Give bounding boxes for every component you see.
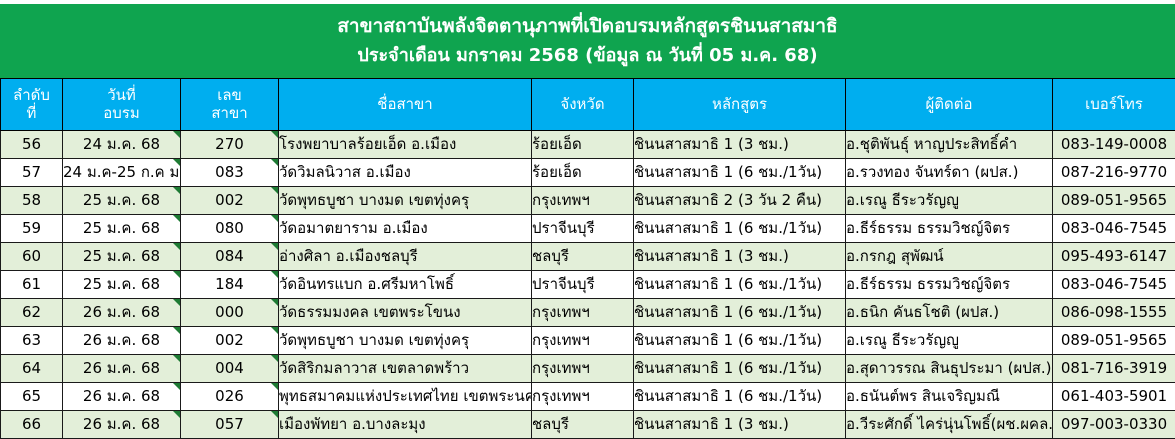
cell-name[interactable]: วัดอินทรแบก อ.ศรีมหาโพธิ์ (279, 271, 532, 299)
comment-indicator-icon (271, 383, 278, 390)
cell-province[interactable]: ร้อยเอ็ด (532, 159, 634, 187)
column-header-code-line1: เลข (181, 87, 278, 104)
table-row[interactable]: 6626 ม.ค. 68057เมืองพัทยา อ.บางละมุงชลบุ… (1, 411, 1175, 439)
comment-indicator-icon (173, 159, 180, 166)
cell-phone[interactable]: 089-051-9565 (1053, 187, 1175, 215)
cell-province[interactable]: ปราจีนบุรี (532, 215, 634, 243)
cell-no[interactable]: 60 (1, 243, 63, 271)
cell-name[interactable]: วัดพุทธบูชา บางมด เขตทุ่งครุ (279, 187, 532, 215)
column-header-phone-label: เบอร์โทร (1053, 96, 1175, 113)
cell-course[interactable]: ชินนสาสมาธิ 2 (3 วัน 2 คืน) (634, 187, 846, 215)
cell-no[interactable]: 61 (1, 271, 63, 299)
comment-indicator-icon (173, 355, 180, 362)
cell-no[interactable]: 64 (1, 355, 63, 383)
comment-indicator-icon (173, 131, 180, 138)
cell-province[interactable]: กรุงเทพฯ (532, 299, 634, 327)
comment-indicator-icon (173, 327, 180, 334)
cell-code[interactable]: 084 (181, 243, 279, 271)
comment-indicator-icon (271, 327, 278, 334)
column-header-province[interactable]: จังหวัด (532, 79, 634, 131)
cell-code[interactable]: 270 (181, 131, 279, 159)
cell-code[interactable]: 057 (181, 411, 279, 439)
column-header-date-line1: วันที่ (63, 87, 180, 104)
cell-phone[interactable]: 089-051-9565 (1053, 327, 1175, 355)
cell-contact[interactable]: อ.เรณู ธีระวรัญญู (846, 327, 1053, 355)
table-header-row: ลำดับ ที่ วันที่ อบรม เลข สาขา ชื่อสาขา … (1, 79, 1175, 131)
cell-date[interactable]: 26 ม.ค. 68 (63, 383, 181, 411)
cell-contact[interactable]: อ.ธนิก คันธโชติ (ผปส.) (846, 299, 1053, 327)
cell-province[interactable]: กรุงเทพฯ (532, 355, 634, 383)
table-row[interactable]: 6226 ม.ค. 68000วัดธรรมมงคล เขตพระโขนงกรุ… (1, 299, 1175, 327)
table-row[interactable]: 5724 ม.ค-25 ก.ค ม.ค. 68083วัดวิมลนิวาส อ… (1, 159, 1175, 187)
column-header-province-label: จังหวัด (532, 96, 633, 113)
comment-indicator-icon (271, 243, 278, 250)
cell-date[interactable]: 26 ม.ค. 68 (63, 411, 181, 439)
column-header-course[interactable]: หลักสูตร (634, 79, 846, 131)
column-header-course-label: หลักสูตร (634, 96, 845, 113)
cell-date[interactable]: 24 ม.ค. 68 (63, 131, 181, 159)
comment-indicator-icon (173, 215, 180, 222)
cell-date[interactable]: 25 ม.ค. 68 (63, 187, 181, 215)
column-header-date-line2: อบรม (63, 105, 180, 122)
cell-contact[interactable]: อ.ธนันต์พร สินเจริญมณี (846, 383, 1053, 411)
cell-date[interactable]: 25 ม.ค. 68 (63, 215, 181, 243)
cell-province[interactable]: ปราจีนบุรี (532, 271, 634, 299)
table-row[interactable]: 5925 ม.ค. 68080วัดอมาตยาราม อ.เมืองปราจี… (1, 215, 1175, 243)
comment-indicator-icon (271, 215, 278, 222)
banner-title-line1: สาขาสถาบันพลังจิตตานุภาพที่เปิดอบรมหลักส… (337, 16, 837, 37)
cell-date[interactable]: 26 ม.ค. 68 (63, 355, 181, 383)
cell-code[interactable]: 002 (181, 327, 279, 355)
cell-no[interactable]: 65 (1, 383, 63, 411)
cell-name[interactable]: เมืองพัทยา อ.บางละมุง (279, 411, 532, 439)
cell-code[interactable]: 184 (181, 271, 279, 299)
comment-indicator-icon (173, 299, 180, 306)
cell-name[interactable]: วัดอมาตยาราม อ.เมือง (279, 215, 532, 243)
cell-course[interactable]: ชินนสาสมาธิ 1 (6 ชม./1วัน) (634, 215, 846, 243)
cell-code[interactable]: 026 (181, 383, 279, 411)
comment-indicator-icon (271, 187, 278, 194)
cell-phone[interactable]: 086-098-1555 (1053, 299, 1175, 327)
cell-course[interactable]: ชินนสาสมาธิ 1 (3 ชม.) (634, 243, 846, 271)
column-header-no[interactable]: ลำดับ ที่ (1, 79, 63, 131)
title-banner: สาขาสถาบันพลังจิตตานุภาพที่เปิดอบรมหลักส… (0, 2, 1175, 78)
cell-course[interactable]: ชินนสาสมาธิ 1 (6 ชม./1วัน) (634, 271, 846, 299)
comment-indicator-icon (271, 271, 278, 278)
cell-course[interactable]: ชินนสาสมาธิ 1 (6 ชม./1วัน) (634, 327, 846, 355)
cell-name[interactable]: วัดสิริกมลาวาส เขตลาดพร้าว (279, 355, 532, 383)
cell-code[interactable]: 002 (181, 187, 279, 215)
comment-indicator-icon (271, 411, 278, 418)
cell-course[interactable]: ชินนสาสมาธิ 1 (6 ชม./1วัน) (634, 355, 846, 383)
cell-contact[interactable]: อ.เรณู ธีระวรัญญู (846, 187, 1053, 215)
cell-phone[interactable]: 087-216-9770 (1053, 159, 1175, 187)
cell-phone[interactable]: 083-046-7545 (1053, 215, 1175, 243)
cell-no[interactable]: 58 (1, 187, 63, 215)
column-header-code-line2: สาขา (181, 105, 278, 122)
cell-phone[interactable]: 083-149-0008 (1053, 131, 1175, 159)
column-header-no-line2: ที่ (1, 105, 62, 122)
cell-date[interactable]: 26 ม.ค. 68 (63, 299, 181, 327)
cell-province[interactable]: กรุงเทพฯ (532, 383, 634, 411)
cell-contact[interactable]: อ.ชุติพันธุ์ หาญประสิทธิ์คำ (846, 131, 1053, 159)
cell-province[interactable]: กรุงเทพฯ (532, 187, 634, 215)
cell-contact[interactable]: อ.สุดาวรรณ สินธุประมา (ผปส.) (846, 355, 1053, 383)
cell-code[interactable]: 083 (181, 159, 279, 187)
cell-contact[interactable]: อ.วีระศักดิ์ ไคร่นุ่นโพธิ์(ผช.ผคล. 057) (846, 411, 1053, 439)
table-row[interactable]: 6426 ม.ค. 68004วัดสิริกมลาวาส เขตลาดพร้า… (1, 355, 1175, 383)
comment-indicator-icon (173, 187, 180, 194)
cell-course[interactable]: ชินนสาสมาธิ 1 (3 ชม.) (634, 131, 846, 159)
cell-name[interactable]: โรงพยาบาลร้อยเอ็ด อ.เมือง (279, 131, 532, 159)
comment-indicator-icon (271, 355, 278, 362)
cell-course[interactable]: ชินนสาสมาธิ 1 (6 ชม./1วัน) (634, 159, 846, 187)
cell-date[interactable]: 24 ม.ค-25 ก.ค ม.ค. 68 (63, 159, 181, 187)
cell-contact[interactable]: อ.รวงทอง จันทร์ดา (ผปส.) (846, 159, 1053, 187)
column-header-name-label: ชื่อสาขา (279, 96, 531, 113)
cell-province[interactable]: ชลบุรี (532, 243, 634, 271)
cell-phone[interactable]: 083-046-7545 (1053, 271, 1175, 299)
cell-course[interactable]: ชินนสาสมาธิ 1 (6 ชม./1วัน) (634, 299, 846, 327)
cell-no[interactable]: 63 (1, 327, 63, 355)
comment-indicator-icon (271, 159, 278, 166)
cell-province[interactable]: กรุงเทพฯ (532, 327, 634, 355)
table-body: 5624 ม.ค. 68270โรงพยาบาลร้อยเอ็ด อ.เมือง… (1, 131, 1175, 439)
cell-date[interactable]: 25 ม.ค. 68 (63, 271, 181, 299)
column-header-date[interactable]: วันที่ อบรม (63, 79, 181, 131)
cell-phone[interactable]: 061-403-5901 (1053, 383, 1175, 411)
comment-indicator-icon (271, 131, 278, 138)
branches-table: ลำดับ ที่ วันที่ อบรม เลข สาขา ชื่อสาขา … (0, 78, 1175, 439)
column-header-contact[interactable]: ผู้ติดต่อ (846, 79, 1053, 131)
cell-name[interactable]: อ่างศิลา อ.เมืองชลบุรี (279, 243, 532, 271)
cell-no[interactable]: 59 (1, 215, 63, 243)
column-header-contact-label: ผู้ติดต่อ (846, 96, 1052, 113)
table-row[interactable]: 6326 ม.ค. 68002วัดพุทธบูชา บางมด เขตทุ่ง… (1, 327, 1175, 355)
cell-contact[interactable]: อ.ธีร์ธรรม ธรรมวิชญ์จิตร (846, 271, 1053, 299)
cell-phone[interactable]: 081-716-3919 (1053, 355, 1175, 383)
cell-no[interactable]: 56 (1, 131, 63, 159)
table-row[interactable]: 5624 ม.ค. 68270โรงพยาบาลร้อยเอ็ด อ.เมือง… (1, 131, 1175, 159)
cell-code[interactable]: 004 (181, 355, 279, 383)
cell-code[interactable]: 080 (181, 215, 279, 243)
cell-name[interactable]: วัดวิมลนิวาส อ.เมือง (279, 159, 532, 187)
table-row[interactable]: 6025 ม.ค. 68084อ่างศิลา อ.เมืองชลบุรีชลบ… (1, 243, 1175, 271)
cell-name[interactable]: วัดธรรมมงคล เขตพระโขนง (279, 299, 532, 327)
cell-province[interactable]: ชลบุรี (532, 411, 634, 439)
table-header: ลำดับ ที่ วันที่ อบรม เลข สาขา ชื่อสาขา … (1, 79, 1175, 131)
spreadsheet-page: สาขาสถาบันพลังจิตตานุภาพที่เปิดอบรมหลักส… (0, 0, 1175, 439)
comment-indicator-icon (271, 299, 278, 306)
comment-indicator-icon (173, 383, 180, 390)
cell-date[interactable]: 26 ม.ค. 68 (63, 327, 181, 355)
cell-phone[interactable]: 095-493-6147 (1053, 243, 1175, 271)
comment-indicator-icon (173, 271, 180, 278)
cell-course[interactable]: ชินนสาสมาธิ 1 (3 ชม.) (634, 411, 846, 439)
cell-phone[interactable]: 097-003-0330 (1053, 411, 1175, 439)
cell-no[interactable]: 57 (1, 159, 63, 187)
column-header-no-line1: ลำดับ (1, 87, 62, 104)
banner-title-line2: ประจำเดือน มกราคม 2568 (ข้อมูล ณ วันที่ … (357, 46, 817, 66)
cell-name[interactable]: วัดพุทธบูชา บางมด เขตทุ่งครุ (279, 327, 532, 355)
column-header-phone[interactable]: เบอร์โทร (1053, 79, 1175, 131)
comment-indicator-icon (173, 243, 180, 250)
cell-name[interactable]: พุทธสมาคมแห่งประเทศไทย เขตพระนคร (279, 383, 532, 411)
cell-contact[interactable]: อ.กรกฎ สุพัฒน์ (846, 243, 1053, 271)
column-header-name[interactable]: ชื่อสาขา (279, 79, 532, 131)
cell-date[interactable]: 25 ม.ค. 68 (63, 243, 181, 271)
table-row[interactable]: 5825 ม.ค. 68002วัดพุทธบูชา บางมด เขตทุ่ง… (1, 187, 1175, 215)
cell-no[interactable]: 66 (1, 411, 63, 439)
cell-province[interactable]: ร้อยเอ็ด (532, 131, 634, 159)
comment-indicator-icon (173, 411, 180, 418)
cell-contact[interactable]: อ.ธีร์ธรรม ธรรมวิชญ์จิตร (846, 215, 1053, 243)
column-header-code[interactable]: เลข สาขา (181, 79, 279, 131)
cell-course[interactable]: ชินนสาสมาธิ 1 (6 ชม./1วัน) (634, 383, 846, 411)
table-row[interactable]: 6125 ม.ค. 68184วัดอินทรแบก อ.ศรีมหาโพธิ์… (1, 271, 1175, 299)
table-row[interactable]: 6526 ม.ค. 68026พุทธสมาคมแห่งประเทศไทย เข… (1, 383, 1175, 411)
cell-code[interactable]: 000 (181, 299, 279, 327)
cell-no[interactable]: 62 (1, 299, 63, 327)
